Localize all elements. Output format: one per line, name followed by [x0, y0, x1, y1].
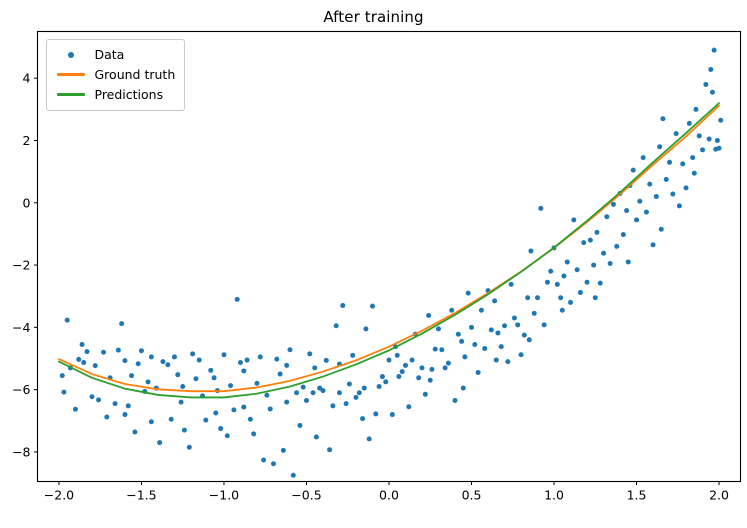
data-point: [708, 67, 713, 72]
data-point: [146, 379, 151, 384]
y-tick-label: −6: [12, 382, 30, 397]
data-point: [565, 259, 570, 264]
data-point: [122, 412, 127, 417]
data-point: [96, 397, 101, 402]
data-point: [707, 136, 712, 141]
data-point: [561, 273, 566, 278]
data-point: [221, 352, 226, 357]
data-point: [327, 447, 332, 452]
data-point: [180, 384, 185, 389]
legend-swatch: [57, 73, 85, 76]
data-point: [667, 160, 672, 165]
data-point: [568, 300, 573, 305]
data-point: [410, 358, 415, 363]
data-point: [284, 400, 289, 405]
data-point: [81, 360, 86, 365]
data-point: [626, 259, 631, 264]
data-point: [594, 230, 599, 235]
data-point: [703, 82, 708, 87]
data-point: [624, 208, 629, 213]
data-point: [515, 322, 520, 327]
data-point: [519, 352, 524, 357]
data-point: [476, 370, 481, 375]
data-point: [396, 374, 401, 379]
data-point: [680, 161, 685, 166]
data-point: [697, 133, 702, 138]
data-point: [208, 368, 213, 373]
data-point: [482, 346, 487, 351]
data-point: [116, 348, 121, 353]
data-point: [660, 116, 665, 121]
data-scatter-layer: [60, 48, 723, 478]
data-point: [532, 311, 537, 316]
data-point: [254, 381, 259, 386]
data-point: [312, 365, 317, 370]
data-point: [367, 436, 372, 441]
data-point: [311, 390, 316, 395]
data-point: [692, 171, 697, 176]
x-tick-label: 0.0: [379, 488, 399, 503]
x-tick-label: 0.5: [462, 488, 482, 503]
data-point: [340, 303, 345, 308]
data-point: [670, 192, 675, 197]
data-point: [360, 416, 365, 421]
data-point: [165, 362, 170, 367]
data-point: [428, 378, 433, 383]
data-point: [469, 325, 474, 330]
data-point: [664, 177, 669, 182]
data-point: [654, 194, 659, 199]
data-point: [218, 426, 223, 431]
data-point: [575, 267, 580, 272]
data-point: [591, 263, 596, 268]
data-point: [370, 304, 375, 309]
data-point: [505, 359, 510, 364]
data-point: [545, 280, 550, 285]
data-point: [60, 373, 65, 378]
data-point: [160, 359, 165, 364]
data-point: [466, 291, 471, 296]
data-point: [320, 388, 325, 393]
data-point: [509, 282, 514, 287]
data-point: [693, 107, 698, 112]
data-point: [203, 418, 208, 423]
data-point: [700, 147, 705, 152]
data-point: [527, 337, 532, 342]
data-point: [245, 358, 250, 363]
y-tick-label: 0: [23, 195, 31, 210]
data-point: [73, 407, 78, 412]
data-point: [101, 350, 106, 355]
data-point: [528, 249, 533, 254]
data-point: [439, 347, 444, 352]
data-point: [614, 244, 619, 249]
data-point: [362, 386, 367, 391]
data-point: [85, 349, 90, 354]
data-point: [522, 333, 527, 338]
data-point: [420, 365, 425, 370]
x-tick-label: −2.0: [44, 488, 74, 503]
data-point: [403, 363, 408, 368]
data-point: [674, 131, 679, 136]
data-point: [377, 384, 382, 389]
predictions-line: [59, 103, 719, 397]
data-point: [264, 393, 269, 398]
data-point: [538, 206, 543, 211]
data-point: [588, 238, 593, 243]
data-point: [535, 295, 540, 300]
data-point: [608, 261, 613, 266]
data-point: [677, 203, 682, 208]
data-point: [453, 398, 458, 403]
data-point: [284, 363, 289, 368]
data-point: [601, 251, 606, 256]
data-point: [715, 138, 720, 143]
y-tick-label: −8: [12, 444, 30, 459]
data-point: [443, 365, 448, 370]
data-point: [330, 403, 335, 408]
data-point: [258, 354, 263, 359]
data-point: [193, 376, 198, 381]
data-point: [436, 326, 441, 331]
data-point: [213, 410, 218, 415]
data-point: [634, 217, 639, 222]
data-point: [423, 392, 428, 397]
data-point: [659, 227, 664, 232]
data-point: [548, 269, 553, 274]
data-point: [225, 433, 230, 438]
data-point: [307, 351, 312, 356]
data-point: [593, 295, 598, 300]
data-point: [104, 415, 109, 420]
data-point: [241, 368, 246, 373]
data-point: [651, 242, 656, 247]
data-point: [499, 344, 504, 349]
data-point: [76, 357, 81, 362]
data-point: [89, 394, 94, 399]
legend-label: Predictions: [95, 87, 164, 102]
data-point: [179, 400, 184, 405]
data-point: [621, 232, 626, 237]
data-point: [119, 321, 124, 326]
data-point: [261, 458, 266, 463]
data-point: [248, 417, 253, 422]
legend-swatch: [57, 93, 85, 96]
data-point: [197, 358, 202, 363]
legend-marker-dot-icon: [54, 52, 88, 58]
matplotlib-figure: After training 420−2−4−6−8 −2.0−1.5−1.0−…: [0, 0, 747, 528]
data-point: [182, 428, 187, 433]
data-point: [268, 406, 273, 411]
data-point: [380, 374, 385, 379]
data-point: [631, 168, 636, 173]
data-point: [241, 405, 246, 410]
data-point: [390, 412, 395, 417]
data-point: [555, 282, 560, 287]
data-point: [353, 395, 358, 400]
data-point: [718, 118, 723, 123]
data-point: [344, 401, 349, 406]
data-point: [383, 379, 388, 384]
data-point: [287, 347, 292, 352]
data-point: [461, 386, 466, 391]
data-point: [525, 295, 530, 300]
data-point: [578, 290, 583, 295]
data-point: [271, 461, 276, 466]
data-point: [604, 214, 609, 219]
data-point: [492, 298, 497, 303]
data-point: [446, 361, 451, 366]
data-point: [278, 372, 283, 377]
data-point: [489, 327, 494, 332]
data-point: [334, 323, 339, 328]
data-point: [717, 146, 722, 151]
x-tick-label: 2.0: [709, 488, 729, 503]
legend-item: Predictions: [54, 85, 176, 105]
data-point: [238, 360, 243, 365]
y-tick-label: 4: [23, 71, 31, 86]
x-tick-label: −0.5: [291, 488, 321, 503]
data-point: [472, 342, 477, 347]
data-point: [512, 316, 517, 321]
data-point: [406, 404, 411, 409]
data-point: [456, 332, 461, 337]
data-point: [169, 417, 174, 422]
x-tick-label: 1.0: [544, 488, 564, 503]
data-point: [687, 121, 692, 126]
data-point: [274, 357, 279, 362]
data-point: [495, 330, 500, 335]
data-point: [122, 358, 127, 363]
data-point: [149, 354, 154, 359]
data-point: [542, 322, 547, 327]
data-point: [61, 390, 66, 395]
y-tick-label: −2: [12, 258, 30, 273]
data-point: [581, 240, 586, 245]
data-point: [235, 297, 240, 302]
data-point: [690, 155, 695, 160]
data-point: [93, 363, 98, 368]
legend-label: Data: [95, 47, 125, 62]
data-point: [314, 434, 319, 439]
data-point: [502, 323, 507, 328]
data-point: [212, 375, 217, 380]
data-point: [433, 347, 438, 352]
data-point: [395, 353, 400, 358]
data-point: [710, 90, 715, 95]
y-tick-label: 2: [23, 133, 31, 148]
data-point: [357, 390, 362, 395]
data-point: [80, 342, 85, 347]
data-point: [647, 182, 652, 187]
data-point: [297, 423, 302, 428]
data-point: [113, 401, 118, 406]
data-point: [373, 411, 378, 416]
data-point: [598, 281, 603, 286]
data-point: [479, 308, 484, 313]
data-point: [416, 375, 421, 380]
data-point: [337, 390, 342, 395]
data-point: [190, 351, 195, 356]
data-point: [637, 199, 642, 204]
data-point: [611, 202, 616, 207]
data-point: [294, 390, 299, 395]
data-point: [459, 339, 464, 344]
data-point: [149, 419, 154, 424]
data-point: [400, 369, 405, 374]
data-point: [560, 308, 565, 313]
data-point: [558, 295, 563, 300]
data-point: [172, 354, 177, 359]
data-point: [291, 473, 296, 478]
data-point: [494, 358, 499, 363]
legend-label: Ground truth: [95, 67, 176, 82]
ground-truth-line: [59, 106, 719, 392]
data-point: [187, 445, 192, 450]
data-point: [175, 372, 180, 377]
data-point: [363, 326, 368, 331]
legend-marker-line-icon: [54, 73, 88, 76]
x-tick-label: 1.5: [627, 488, 647, 503]
data-point: [301, 385, 306, 390]
data-point: [132, 429, 137, 434]
data-point: [281, 448, 286, 453]
legend: DataGround truthPredictions: [46, 39, 186, 111]
data-point: [429, 367, 434, 372]
y-axis-ticks: 420−2−4−6−8: [12, 71, 37, 460]
legend-marker-line-icon: [54, 93, 88, 96]
data-point: [139, 348, 144, 353]
data-point: [462, 354, 467, 359]
data-point: [129, 373, 134, 378]
data-point: [231, 407, 236, 412]
data-point: [126, 403, 131, 408]
data-point: [644, 210, 649, 215]
data-point: [641, 155, 646, 160]
data-point: [657, 144, 662, 149]
data-point: [387, 358, 392, 363]
data-point: [65, 318, 70, 323]
data-point: [426, 313, 431, 318]
data-point: [571, 217, 576, 222]
x-tick-label: −1.5: [126, 488, 156, 503]
x-axis-ticks: −2.0−1.5−1.0−0.50.00.51.01.52.0: [44, 482, 729, 503]
data-point: [251, 431, 256, 436]
data-point: [136, 361, 141, 366]
legend-item: Ground truth: [54, 65, 176, 85]
legend-swatch: [68, 52, 74, 58]
data-point: [304, 398, 309, 403]
data-point: [585, 280, 590, 285]
legend-item: Data: [54, 45, 176, 65]
y-tick-label: −4: [12, 320, 30, 335]
data-point: [712, 48, 717, 53]
data-point: [449, 308, 454, 313]
x-tick-label: −1.0: [209, 488, 239, 503]
data-point: [684, 185, 689, 190]
data-point: [347, 382, 352, 387]
data-point: [350, 353, 355, 358]
data-point: [228, 383, 233, 388]
data-point: [324, 358, 329, 363]
data-point: [157, 440, 162, 445]
